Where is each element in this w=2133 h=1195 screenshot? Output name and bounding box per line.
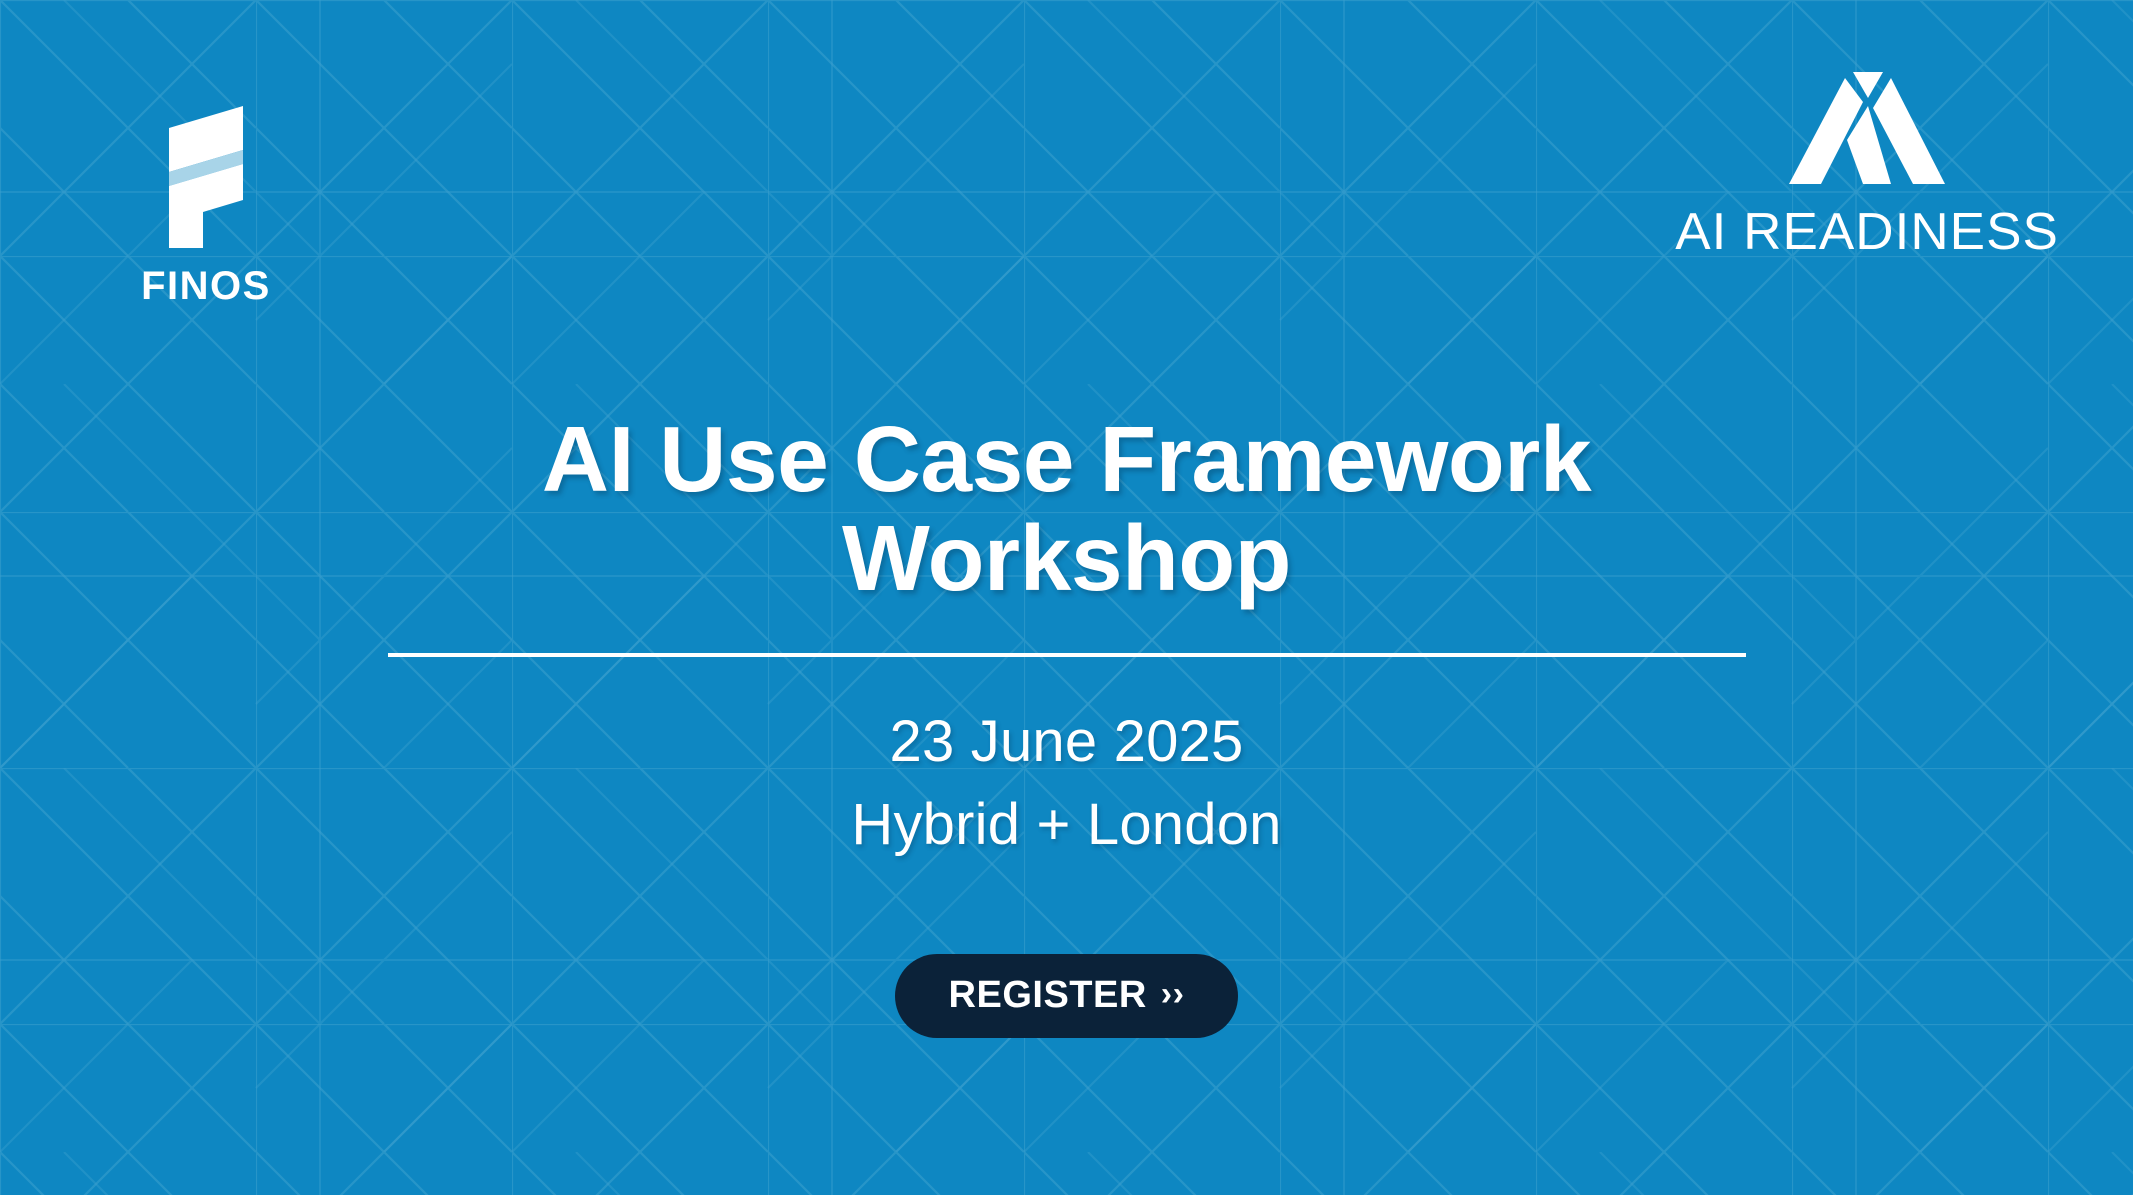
ai-readiness-logo: AI READINESS bbox=[1679, 68, 2055, 258]
register-button[interactable]: REGISTER ›› bbox=[895, 954, 1239, 1038]
title-line-2: Workshop bbox=[842, 506, 1291, 610]
ai-readiness-wordmark: AI READINESS bbox=[1675, 206, 2059, 258]
finos-logo: FINOS bbox=[96, 78, 316, 306]
finos-f-ribbon-icon bbox=[147, 78, 265, 248]
event-details: 23 June 2025 Hybrid + London bbox=[851, 701, 1281, 866]
page-title: AI Use Case Framework Workshop bbox=[397, 410, 1737, 607]
ai-readiness-peak-icon bbox=[1787, 68, 1947, 190]
hero-content: AI Use Case Framework Workshop 23 June 2… bbox=[0, 410, 2133, 1038]
event-location: Hybrid + London bbox=[851, 784, 1281, 866]
register-button-label: REGISTER bbox=[949, 976, 1147, 1014]
finos-wordmark: FINOS bbox=[141, 266, 271, 306]
title-line-1: AI Use Case Framework bbox=[542, 407, 1591, 511]
event-banner: FINOS AI READINESS AI Use Case Framework… bbox=[0, 0, 2133, 1195]
event-date: 23 June 2025 bbox=[851, 701, 1281, 783]
title-divider bbox=[388, 653, 1746, 657]
double-chevron-right-icon: ›› bbox=[1161, 977, 1185, 1011]
